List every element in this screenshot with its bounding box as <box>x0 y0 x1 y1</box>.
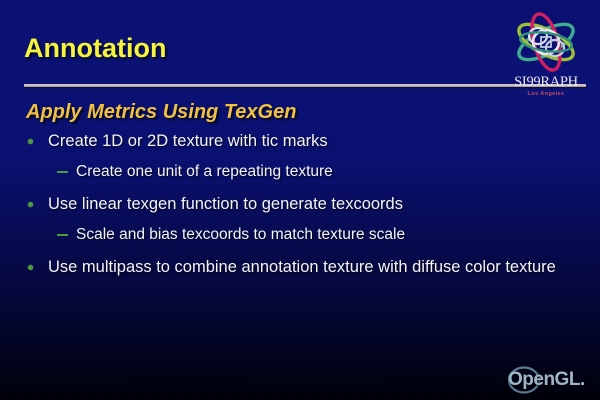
bullet-dash-icon <box>57 234 68 236</box>
bullet-dash-icon <box>57 171 68 173</box>
page-title: Annotation <box>24 33 166 64</box>
bullet-dot-icon <box>28 139 33 144</box>
list-item-label: Scale and bias texcoords to match textur… <box>76 226 405 243</box>
list-item-label: Create one unit of a repeating texture <box>76 163 333 180</box>
list-item-label: Use multipass to combine annotation text… <box>48 258 556 276</box>
list-item-label: Create 1D or 2D texture with tic marks <box>48 132 328 150</box>
list-item: Use multipass to combine annotation text… <box>0 256 600 278</box>
bullet-list: Create 1D or 2D texture with tic marks C… <box>0 130 600 287</box>
list-item: Scale and bias texcoords to match textur… <box>0 224 600 245</box>
list-item-label: Use linear texgen function to generate t… <box>48 195 403 213</box>
opengl-wordmark: OpenGL. <box>508 366 592 394</box>
presentation-slide: Annotation Apply Metrics Using TexGen Cr… <box>0 0 600 400</box>
list-item: Create 1D or 2D texture with tic marks <box>0 130 600 152</box>
bullet-dot-icon <box>28 265 33 270</box>
bullet-dot-icon <box>28 202 33 207</box>
siggraph-wordmark: SI99RAPH <box>498 74 594 91</box>
slide-subtitle: Apply Metrics Using TexGen <box>26 101 296 124</box>
siggraph-logo: SI99RAPH Los Angeles <box>498 8 594 106</box>
opengl-logo: OpenGL. <box>508 366 592 394</box>
siggraph-rings-icon <box>498 8 594 78</box>
list-item: Use linear texgen function to generate t… <box>0 193 600 215</box>
list-item: Create one unit of a repeating texture <box>0 161 600 182</box>
siggraph-city-label: Los Angeles <box>498 91 594 97</box>
